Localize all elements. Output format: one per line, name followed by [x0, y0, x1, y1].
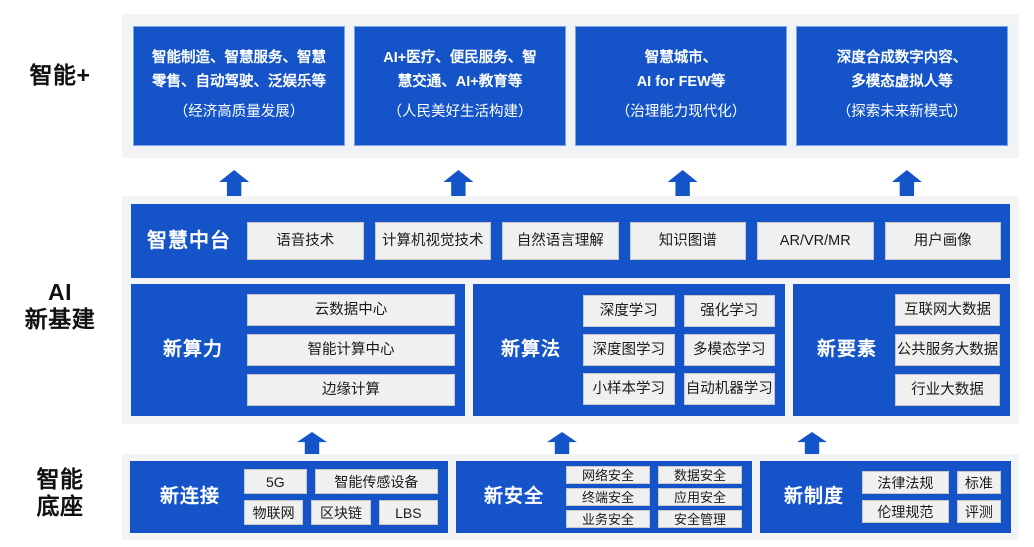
- new-element-block-heading: 新要素: [805, 340, 889, 361]
- chip-row: 业务安全安全管理: [566, 510, 742, 528]
- chip-row: 法律法规标准: [862, 471, 1001, 494]
- smart-platform-chip[interactable]: 语音技术: [247, 222, 364, 260]
- smart-middle-platform-items: 语音技术计算机视觉技术自然语言理解知识图谱AR/VR/MR用户画像: [247, 222, 1001, 260]
- chip-row: 物联网区块链LBS: [244, 500, 438, 525]
- new-security-block-heading: 新安全: [468, 487, 560, 508]
- new-security-block-items: 网络安全数据安全终端安全应用安全业务安全安全管理: [566, 461, 742, 533]
- arrow-up-icon: [297, 432, 327, 454]
- capability-chip[interactable]: 法律法规: [862, 471, 949, 494]
- capability-chip[interactable]: 智能计算中心: [247, 334, 455, 366]
- smart-plus-card-subtitle: （探索未来新模式）: [837, 101, 968, 124]
- capability-chip[interactable]: 标准: [957, 471, 1001, 494]
- arrow-band-lower: [122, 424, 1019, 454]
- smart-platform-chip[interactable]: 计算机视觉技术: [375, 222, 492, 260]
- new-connection-block: 新连接5G智能传感设备物联网区块链LBS: [130, 461, 448, 533]
- new-system-block: 新制度法律法规标准伦理规范评测: [760, 461, 1011, 533]
- ai-architecture-diagram: 智能+ AI 新基建 智能 底座 智能制造、智慧服务、智慧 零售、自动驾驶、泛娱…: [0, 0, 1034, 547]
- capability-chip[interactable]: 安全管理: [658, 510, 742, 528]
- capability-chip[interactable]: 业务安全: [566, 510, 650, 528]
- ai-infrastructure-columns: 新算力云数据中心智能计算中心边缘计算新算法深度学习强化学习深度图学习多模态学习小…: [131, 284, 1010, 416]
- smart-plus-card[interactable]: 智能制造、智慧服务、智慧 零售、自动驾驶、泛娱乐等（经济高质量发展）: [133, 26, 345, 146]
- row-label-intelligent-base: 智能 底座: [0, 466, 120, 520]
- capability-chip[interactable]: 云数据中心: [247, 294, 455, 326]
- chip-row: 网络安全数据安全: [566, 466, 742, 484]
- smart-middle-platform-heading: 智慧中台: [143, 230, 235, 252]
- ai-infrastructure-panel: 智慧中台 语音技术计算机视觉技术自然语言理解知识图谱AR/VR/MR用户画像 新…: [122, 196, 1019, 424]
- capability-chip[interactable]: 自动机器学习: [684, 373, 776, 405]
- new-security-block: 新安全网络安全数据安全终端安全应用安全业务安全安全管理: [456, 461, 752, 533]
- smart-plus-card-subtitle: （治理能力现代化）: [616, 101, 747, 124]
- capability-chip[interactable]: 5G: [244, 469, 307, 494]
- new-connection-block-items: 5G智能传感设备物联网区块链LBS: [244, 461, 438, 533]
- smart-plus-card-title: AI+医疗、便民服务、智 慧交通、AI+教育等: [383, 47, 536, 94]
- smart-plus-panel: 智能制造、智慧服务、智慧 零售、自动驾驶、泛娱乐等（经济高质量发展）AI+医疗、…: [122, 14, 1019, 158]
- row-label-smart-plus: 智能+: [0, 62, 120, 89]
- new-algorithm-block-items: 深度学习强化学习深度图学习多模态学习小样本学习自动机器学习: [583, 284, 775, 416]
- smart-plus-card[interactable]: 智慧城市、 AI for FEW等（治理能力现代化）: [575, 26, 787, 146]
- capability-chip[interactable]: 行业大数据: [895, 374, 1000, 406]
- smart-plus-card-subtitle: （人民美好生活构建）: [388, 101, 533, 124]
- capability-chip[interactable]: 评测: [957, 500, 1001, 523]
- smart-middle-platform-block: 智慧中台 语音技术计算机视觉技术自然语言理解知识图谱AR/VR/MR用户画像: [131, 204, 1010, 278]
- smart-platform-chip[interactable]: 自然语言理解: [502, 222, 619, 260]
- capability-chip[interactable]: 边缘计算: [247, 374, 455, 406]
- new-element-block-items: 互联网大数据公共服务大数据行业大数据: [895, 284, 1000, 416]
- arrow-band-upper: [122, 158, 1019, 196]
- smart-platform-chip[interactable]: AR/VR/MR: [757, 222, 874, 260]
- capability-chip[interactable]: 公共服务大数据: [895, 334, 1000, 366]
- capability-chip[interactable]: 互联网大数据: [895, 294, 1000, 326]
- capability-chip[interactable]: 小样本学习: [583, 373, 675, 405]
- intelligent-base-panel: 新连接5G智能传感设备物联网区块链LBS新安全网络安全数据安全终端安全应用安全业…: [122, 454, 1019, 540]
- smart-plus-card-title: 深度合成数字内容、 多模态虚拟人等: [837, 47, 968, 94]
- arrow-up-icon: [219, 170, 249, 196]
- smart-platform-chip[interactable]: 用户画像: [885, 222, 1002, 260]
- capability-chip[interactable]: 数据安全: [658, 466, 742, 484]
- smart-plus-card[interactable]: 深度合成数字内容、 多模态虚拟人等（探索未来新模式）: [796, 26, 1008, 146]
- arrow-up-icon: [668, 170, 698, 196]
- smart-plus-card-title: 智能制造、智慧服务、智慧 零售、自动驾驶、泛娱乐等: [152, 47, 326, 94]
- capability-chip[interactable]: 伦理规范: [862, 500, 949, 523]
- smart-platform-chip[interactable]: 知识图谱: [630, 222, 747, 260]
- arrow-up-icon: [797, 432, 827, 454]
- new-system-block-heading: 新制度: [772, 487, 856, 508]
- smart-plus-card[interactable]: AI+医疗、便民服务、智 慧交通、AI+教育等（人民美好生活构建）: [354, 26, 566, 146]
- chip-row: 伦理规范评测: [862, 500, 1001, 523]
- new-algorithm-block-heading: 新算法: [485, 340, 577, 361]
- new-algorithm-block: 新算法深度学习强化学习深度图学习多模态学习小样本学习自动机器学习: [473, 284, 785, 416]
- arrow-up-icon: [892, 170, 922, 196]
- new-computing-power-block-heading: 新算力: [145, 340, 241, 361]
- chip-row: 终端安全应用安全: [566, 488, 742, 506]
- capability-chip[interactable]: 智能传感设备: [315, 469, 438, 494]
- smart-plus-card-title: 智慧城市、 AI for FEW等: [637, 47, 726, 94]
- row-label-ai-infrastructure: AI 新基建: [0, 279, 120, 333]
- capability-chip[interactable]: 终端安全: [566, 488, 650, 506]
- arrow-up-icon: [443, 170, 473, 196]
- capability-chip[interactable]: LBS: [379, 500, 438, 525]
- smart-plus-card-subtitle: （经济高质量发展）: [174, 101, 305, 124]
- new-connection-block-heading: 新连接: [142, 487, 238, 508]
- chip-row: 5G智能传感设备: [244, 469, 438, 494]
- new-element-block: 新要素互联网大数据公共服务大数据行业大数据: [793, 284, 1010, 416]
- arrow-up-icon: [547, 432, 577, 454]
- capability-chip[interactable]: 多模态学习: [684, 334, 776, 366]
- capability-chip[interactable]: 深度学习: [583, 295, 675, 327]
- capability-chip[interactable]: 强化学习: [684, 295, 776, 327]
- capability-chip[interactable]: 区块链: [311, 500, 370, 525]
- capability-chip[interactable]: 物联网: [244, 500, 303, 525]
- new-computing-power-block: 新算力云数据中心智能计算中心边缘计算: [131, 284, 465, 416]
- capability-chip[interactable]: 深度图学习: [583, 334, 675, 366]
- new-system-block-items: 法律法规标准伦理规范评测: [862, 461, 1001, 533]
- new-computing-power-block-items: 云数据中心智能计算中心边缘计算: [247, 284, 455, 416]
- capability-chip[interactable]: 应用安全: [658, 488, 742, 506]
- capability-chip[interactable]: 网络安全: [566, 466, 650, 484]
